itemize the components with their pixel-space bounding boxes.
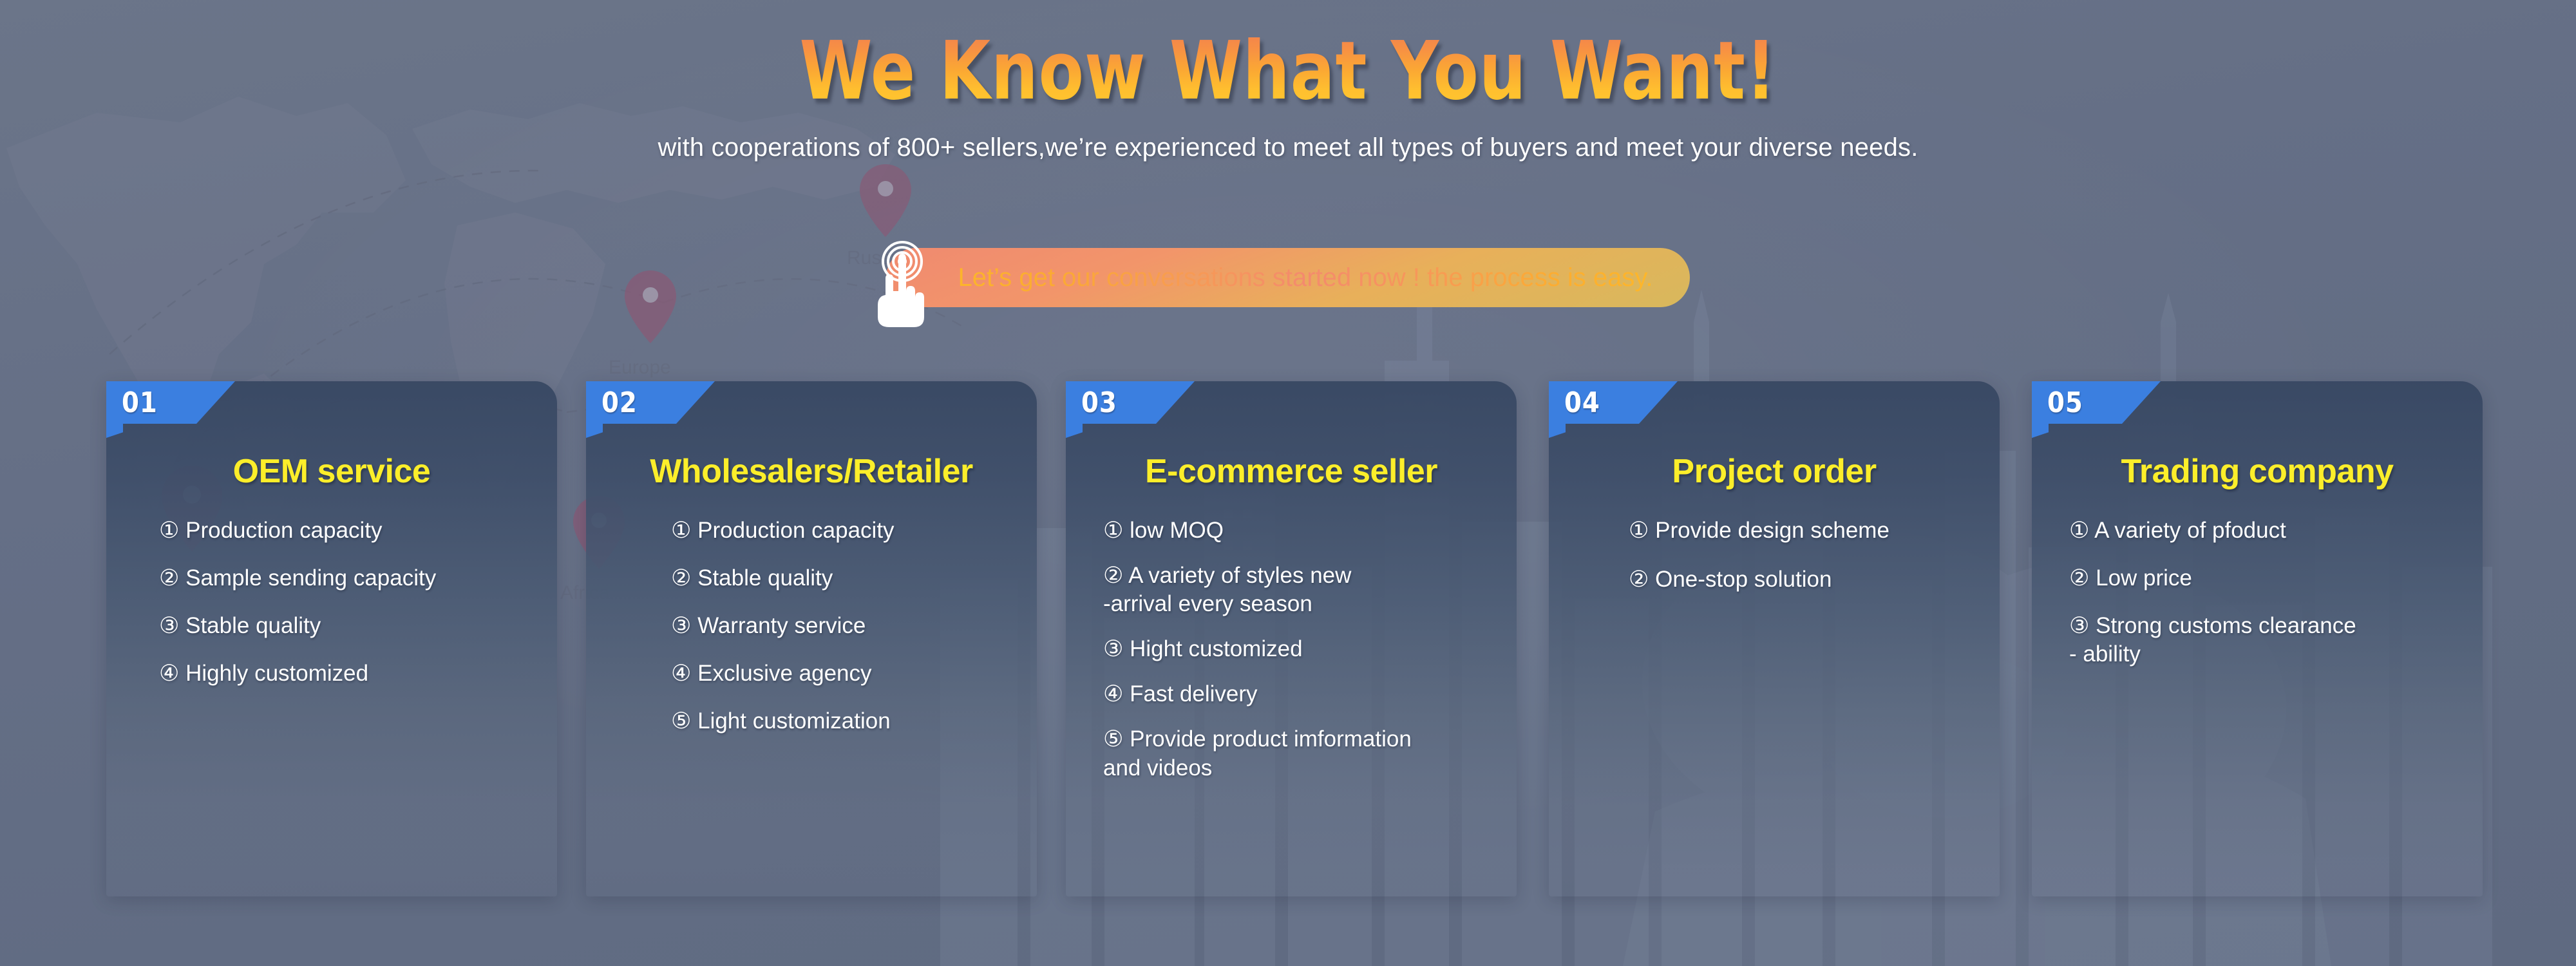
list-item: ① Production capacity [159, 516, 557, 545]
list-item: ④ Fast delivery [1103, 680, 1517, 708]
list-item: ③ Hight customized [1103, 635, 1517, 663]
list-item: ④ Highly customized [159, 659, 557, 688]
list-item: ② Stable quality [671, 564, 1037, 592]
start-conversation-button[interactable]: Let’s get our conversations started now … [886, 248, 1689, 307]
cta-row: Let’s get our conversations started now … [0, 248, 2576, 307]
card-project-order[interactable]: 04 Project order ① Provide design scheme… [1549, 381, 2000, 896]
card-feature-list: ① Production capacity ② Stable quality ③… [586, 516, 1037, 755]
card-number: 04 [1564, 386, 1600, 419]
list-item: ① low MOQ [1103, 516, 1517, 545]
card-trading-company[interactable]: 05 Trading company ① A variety of pfoduc… [2032, 381, 2483, 896]
cta-button-label: Let’s get our conversations started now … [958, 263, 1653, 292]
card-feature-list: ① low MOQ ② A variety of styles new -arr… [1066, 516, 1517, 799]
card-title: Wholesalers/Retailer [586, 452, 1037, 491]
card-number: 03 [1081, 386, 1117, 419]
list-item: ② One-stop solution [1629, 565, 2000, 594]
card-title: Trading company [2032, 452, 2483, 491]
card-number: 02 [601, 386, 638, 419]
card-title: Project order [1549, 452, 2000, 491]
list-item: ⑤ Provide product imformation and videos [1103, 725, 1517, 782]
list-item: ④ Exclusive agency [671, 659, 1037, 688]
card-number: 01 [122, 386, 158, 419]
list-item: ② A variety of styles new -arrival every… [1103, 562, 1517, 618]
card-title: E-commerce seller [1066, 452, 1517, 491]
list-item: ⑤ Light customization [671, 707, 1037, 735]
page-title: We Know What You Want! [232, 31, 2344, 111]
hero-header: We Know What You Want! with cooperations… [0, 0, 2576, 162]
list-item: ① Production capacity [671, 516, 1037, 545]
page-subtitle: with cooperations of 800+ sellers,we’re … [0, 133, 2576, 162]
card-title: OEM service [106, 452, 557, 491]
list-item: ② Low price [2069, 564, 2483, 592]
card-feature-list: ① A variety of pfoduct ② Low price ③ Str… [2032, 516, 2483, 688]
card-number: 05 [2047, 386, 2083, 419]
list-item: ② Sample sending capacity [159, 564, 557, 592]
card-ecommerce-seller[interactable]: 03 E-commerce seller ① low MOQ ② A varie… [1066, 381, 1517, 896]
list-item: ③ Strong customs clearance - ability [2069, 612, 2483, 668]
card-feature-list: ① Provide design scheme ② One-stop solut… [1549, 516, 2000, 614]
list-item: ③ Warranty service [671, 612, 1037, 640]
list-item: ① Provide design scheme [1629, 516, 2000, 545]
card-oem-service[interactable]: 01 OEM service ① Production capacity ② S… [106, 381, 557, 896]
card-wholesalers-retailer[interactable]: 02 Wholesalers/Retailer ① Production cap… [586, 381, 1037, 896]
audience-card-row: 01 OEM service ① Production capacity ② S… [0, 381, 2576, 966]
card-feature-list: ① Production capacity ② Sample sending c… [106, 516, 557, 707]
list-item: ① A variety of pfoduct [2069, 516, 2483, 545]
list-item: ③ Stable quality [159, 612, 557, 640]
